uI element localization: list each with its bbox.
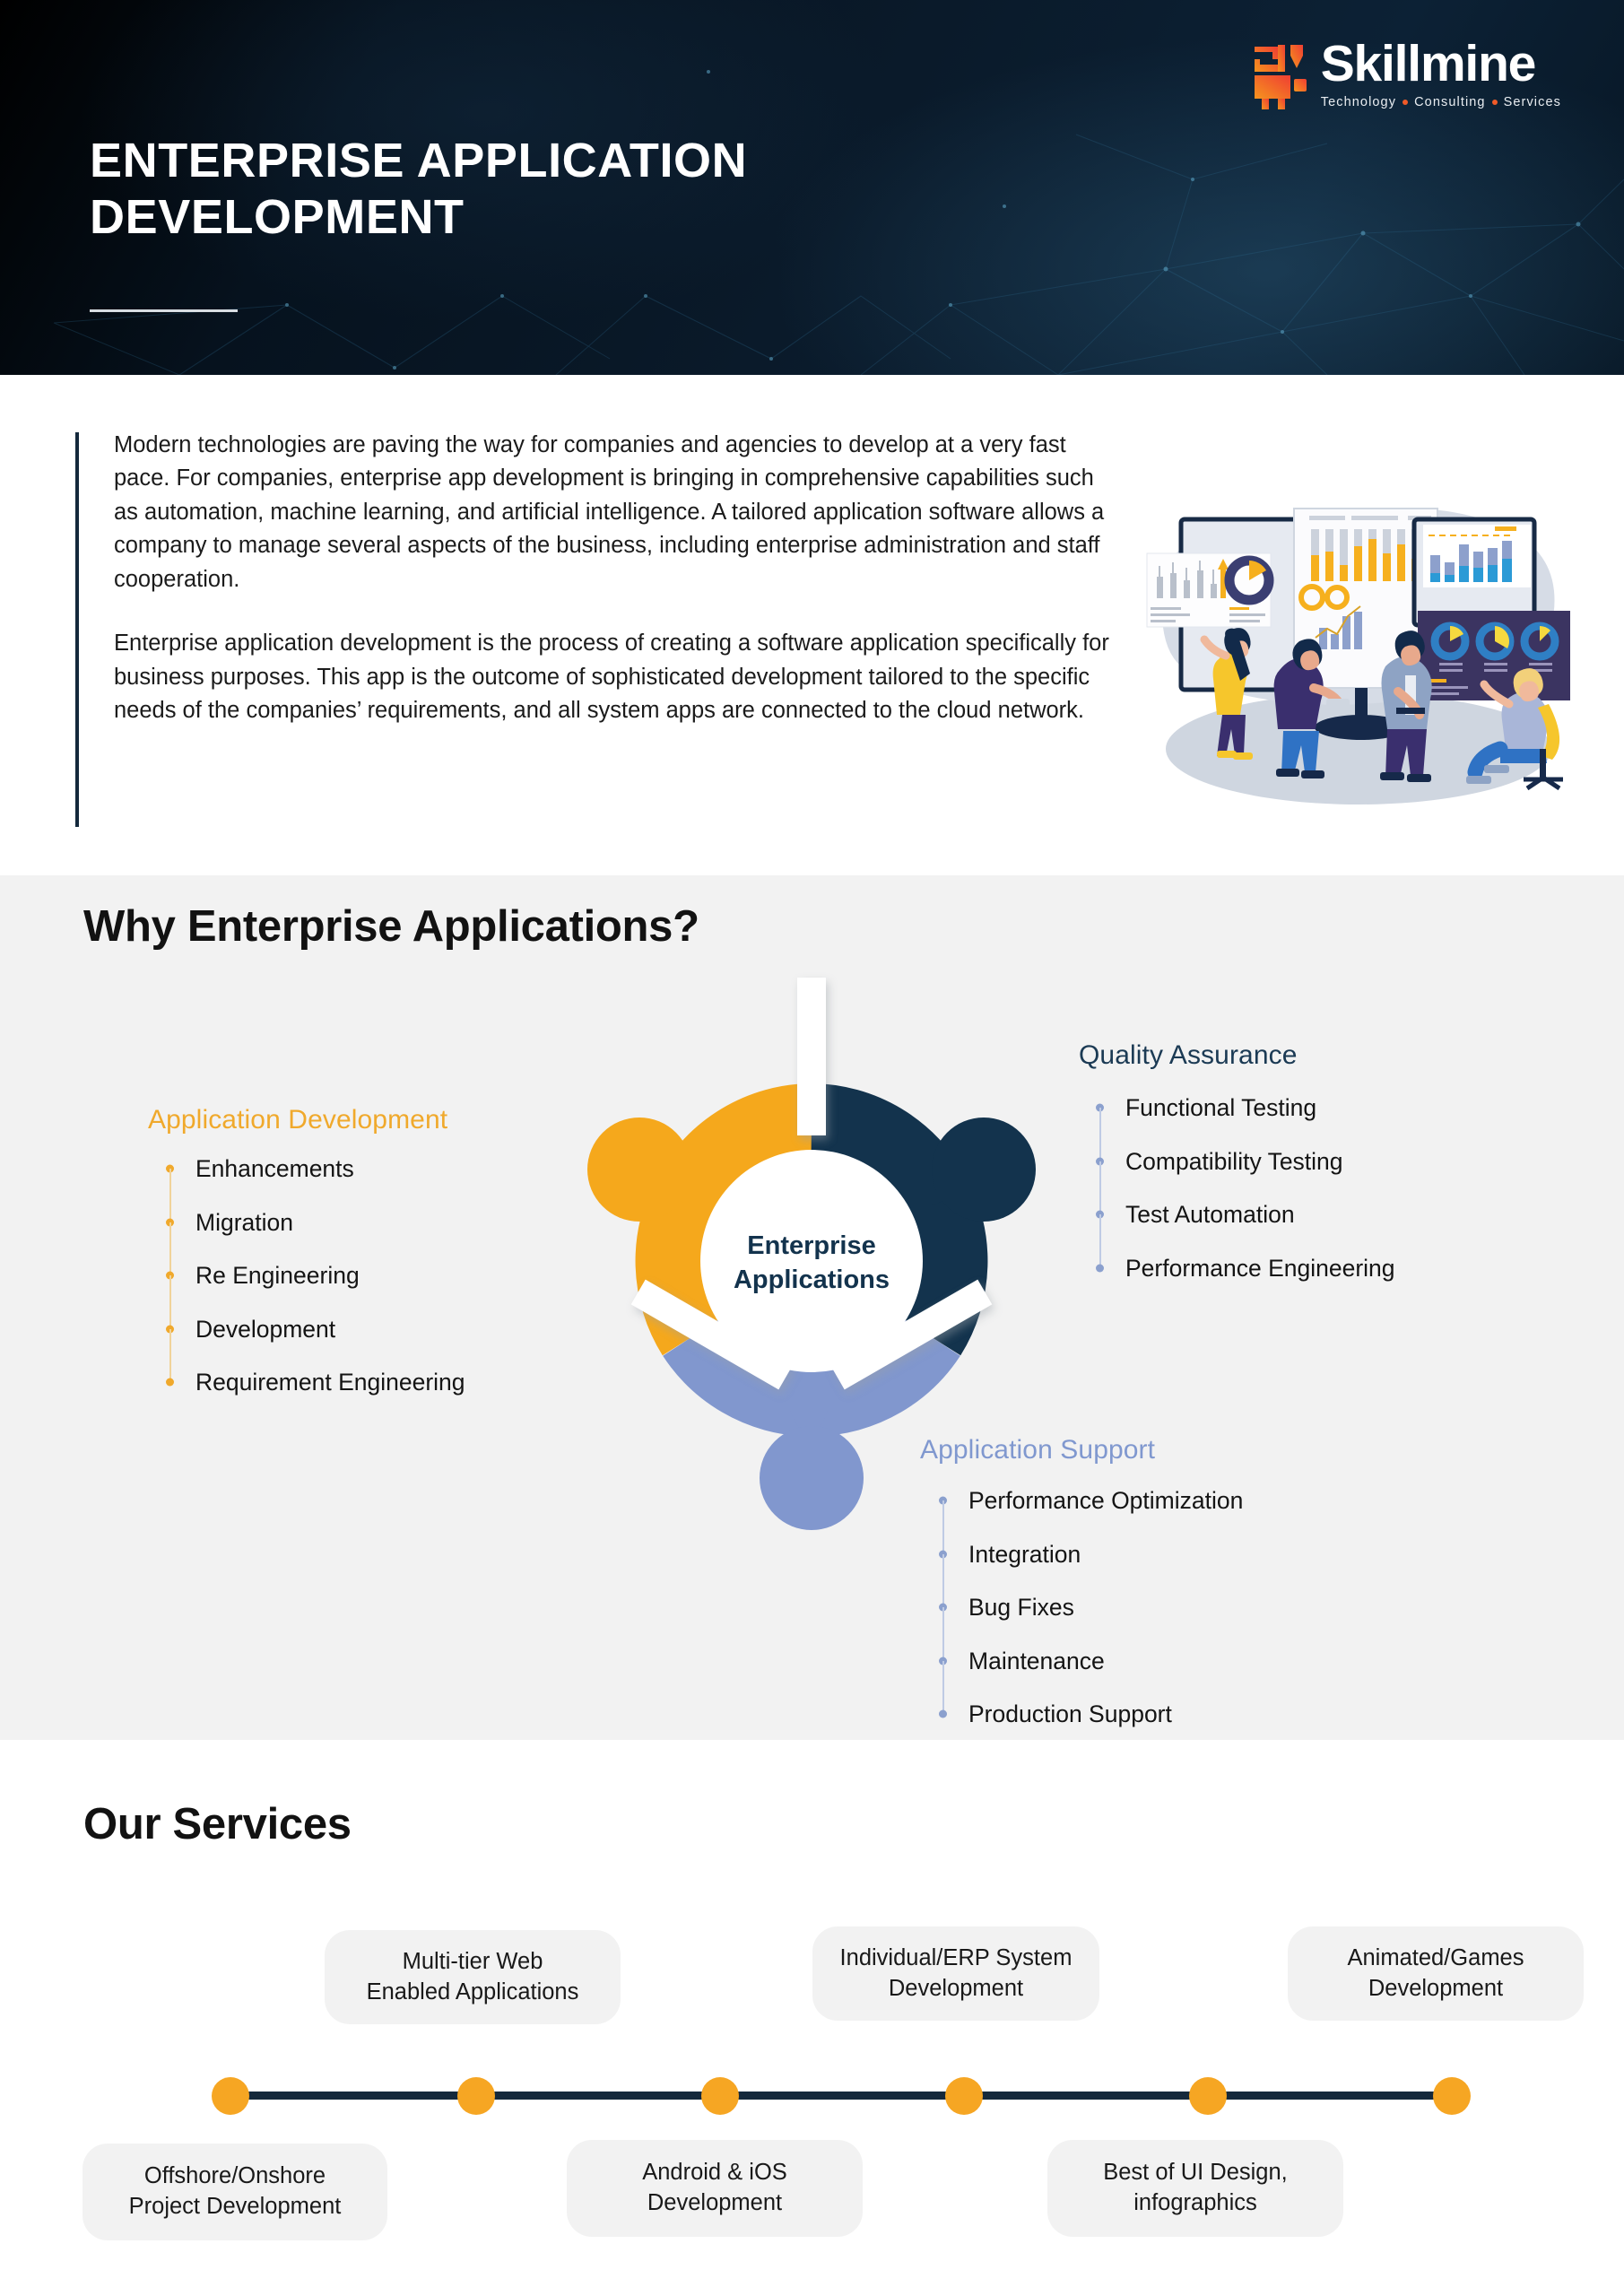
service-card-line-2: Development — [1347, 1974, 1524, 2005]
timeline-dot-1[interactable] — [212, 2077, 249, 2115]
list-item: Performance Engineering — [1090, 1257, 1395, 1281]
enterprise-applications-hub-diagram: Enterprise Applications — [516, 965, 1107, 1575]
hero-banner: ENTERPRISE APPLICATION DEVELOPMENT — [0, 0, 1624, 375]
branch-label-quality-assurance: Quality Assurance — [1079, 1040, 1298, 1071]
service-card-line-2: infographics — [1103, 2188, 1288, 2219]
logo-tagline-technology: Technology — [1321, 95, 1396, 109]
service-card-line-2: Development — [642, 2188, 787, 2219]
list-item: Production Support — [933, 1702, 1243, 1726]
branch-list-application-development: Enhancements Migration Re Engineering De… — [160, 1157, 465, 1395]
team-analytics-illustration — [1143, 480, 1574, 812]
service-card-ui-design-infographics[interactable]: Best of UI Design, infographics — [1047, 2140, 1343, 2237]
timeline-dot-2[interactable] — [457, 2077, 495, 2115]
service-card-line-1: Multi-tier Web — [367, 1947, 579, 1978]
hub-center-label-line2: Applications — [734, 1265, 890, 1294]
list-item: Enhancements — [160, 1157, 465, 1181]
page-title: ENTERPRISE APPLICATION DEVELOPMENT — [90, 133, 1013, 246]
title-underline-rule — [90, 309, 238, 312]
list-item: Integration — [933, 1543, 1243, 1567]
timeline-dot-3[interactable] — [701, 2077, 739, 2115]
service-card-line-1: Individual/ERP System — [840, 1944, 1073, 1974]
branch-list-application-support: Performance Optimization Integration Bug… — [933, 1489, 1243, 1726]
logo-wordmark: Skillmine — [1321, 39, 1561, 90]
service-card-line-2: Project Development — [129, 2192, 342, 2222]
service-card-line-1: Best of UI Design, — [1103, 2158, 1288, 2188]
service-card-line-1: Offshore/Onshore — [129, 2161, 342, 2192]
timeline-dot-6[interactable] — [1433, 2077, 1471, 2115]
infographic-page: ENTERPRISE APPLICATION DEVELOPMENT — [0, 0, 1624, 2296]
services-timeline-line — [229, 2092, 1448, 2100]
timeline-dot-5[interactable] — [1189, 2077, 1227, 2115]
skillmine-logo[interactable]: Skillmine Technology Consulting Services — [1251, 39, 1561, 117]
list-item: Functional Testing — [1090, 1096, 1395, 1120]
service-card-multi-tier-web[interactable]: Multi-tier Web Enabled Applications — [325, 1930, 621, 2024]
timeline-dot-4[interactable] — [945, 2077, 983, 2115]
service-card-animated-games[interactable]: Animated/Games Development — [1288, 1926, 1584, 2021]
service-card-line-1: Android & iOS — [642, 2158, 787, 2188]
list-item: Bug Fixes — [933, 1596, 1243, 1620]
intro-copy: Modern technologies are paving the way f… — [114, 429, 1109, 728]
bullet-dot-icon — [1403, 100, 1408, 105]
service-card-line-1: Animated/Games — [1347, 1944, 1524, 1974]
service-card-line-2: Enabled Applications — [367, 1978, 579, 2008]
list-item: Compatibility Testing — [1090, 1150, 1395, 1174]
service-card-line-2: Development — [840, 1974, 1073, 2005]
branch-list-quality-assurance: Functional Testing Compatibility Testing… — [1090, 1096, 1395, 1280]
list-item: Performance Optimization — [933, 1489, 1243, 1513]
service-card-individual-erp-system[interactable]: Individual/ERP System Development — [812, 1926, 1099, 2021]
branch-label-application-support: Application Support — [920, 1435, 1155, 1465]
service-card-android-ios[interactable]: Android & iOS Development — [567, 2140, 863, 2237]
branch-label-application-development: Application Development — [148, 1105, 447, 1135]
list-item: Re Engineering — [160, 1264, 465, 1288]
list-item: Test Automation — [1090, 1203, 1395, 1227]
logo-tagline: Technology Consulting Services — [1321, 95, 1561, 109]
intro-paragraph-2: Enterprise application development is th… — [114, 627, 1109, 727]
list-item: Maintenance — [933, 1649, 1243, 1674]
skillmine-logo-mark-icon — [1251, 39, 1310, 111]
list-item: Requirement Engineering — [160, 1370, 465, 1395]
list-item: Migration — [160, 1211, 465, 1235]
logo-tagline-consulting: Consulting — [1414, 95, 1486, 109]
why-section-title: Why Enterprise Applications? — [83, 901, 699, 952]
hub-center-label-line1: Enterprise — [747, 1231, 875, 1260]
service-card-offshore-onshore[interactable]: Offshore/Onshore Project Development — [83, 2144, 387, 2240]
services-section-title: Our Services — [83, 1799, 352, 1849]
intro-paragraph-1: Modern technologies are paving the way f… — [114, 429, 1109, 596]
bullet-dot-icon — [1492, 100, 1498, 105]
list-item: Development — [160, 1318, 465, 1342]
logo-tagline-services: Services — [1504, 95, 1561, 109]
intro-accent-bar — [75, 432, 79, 827]
